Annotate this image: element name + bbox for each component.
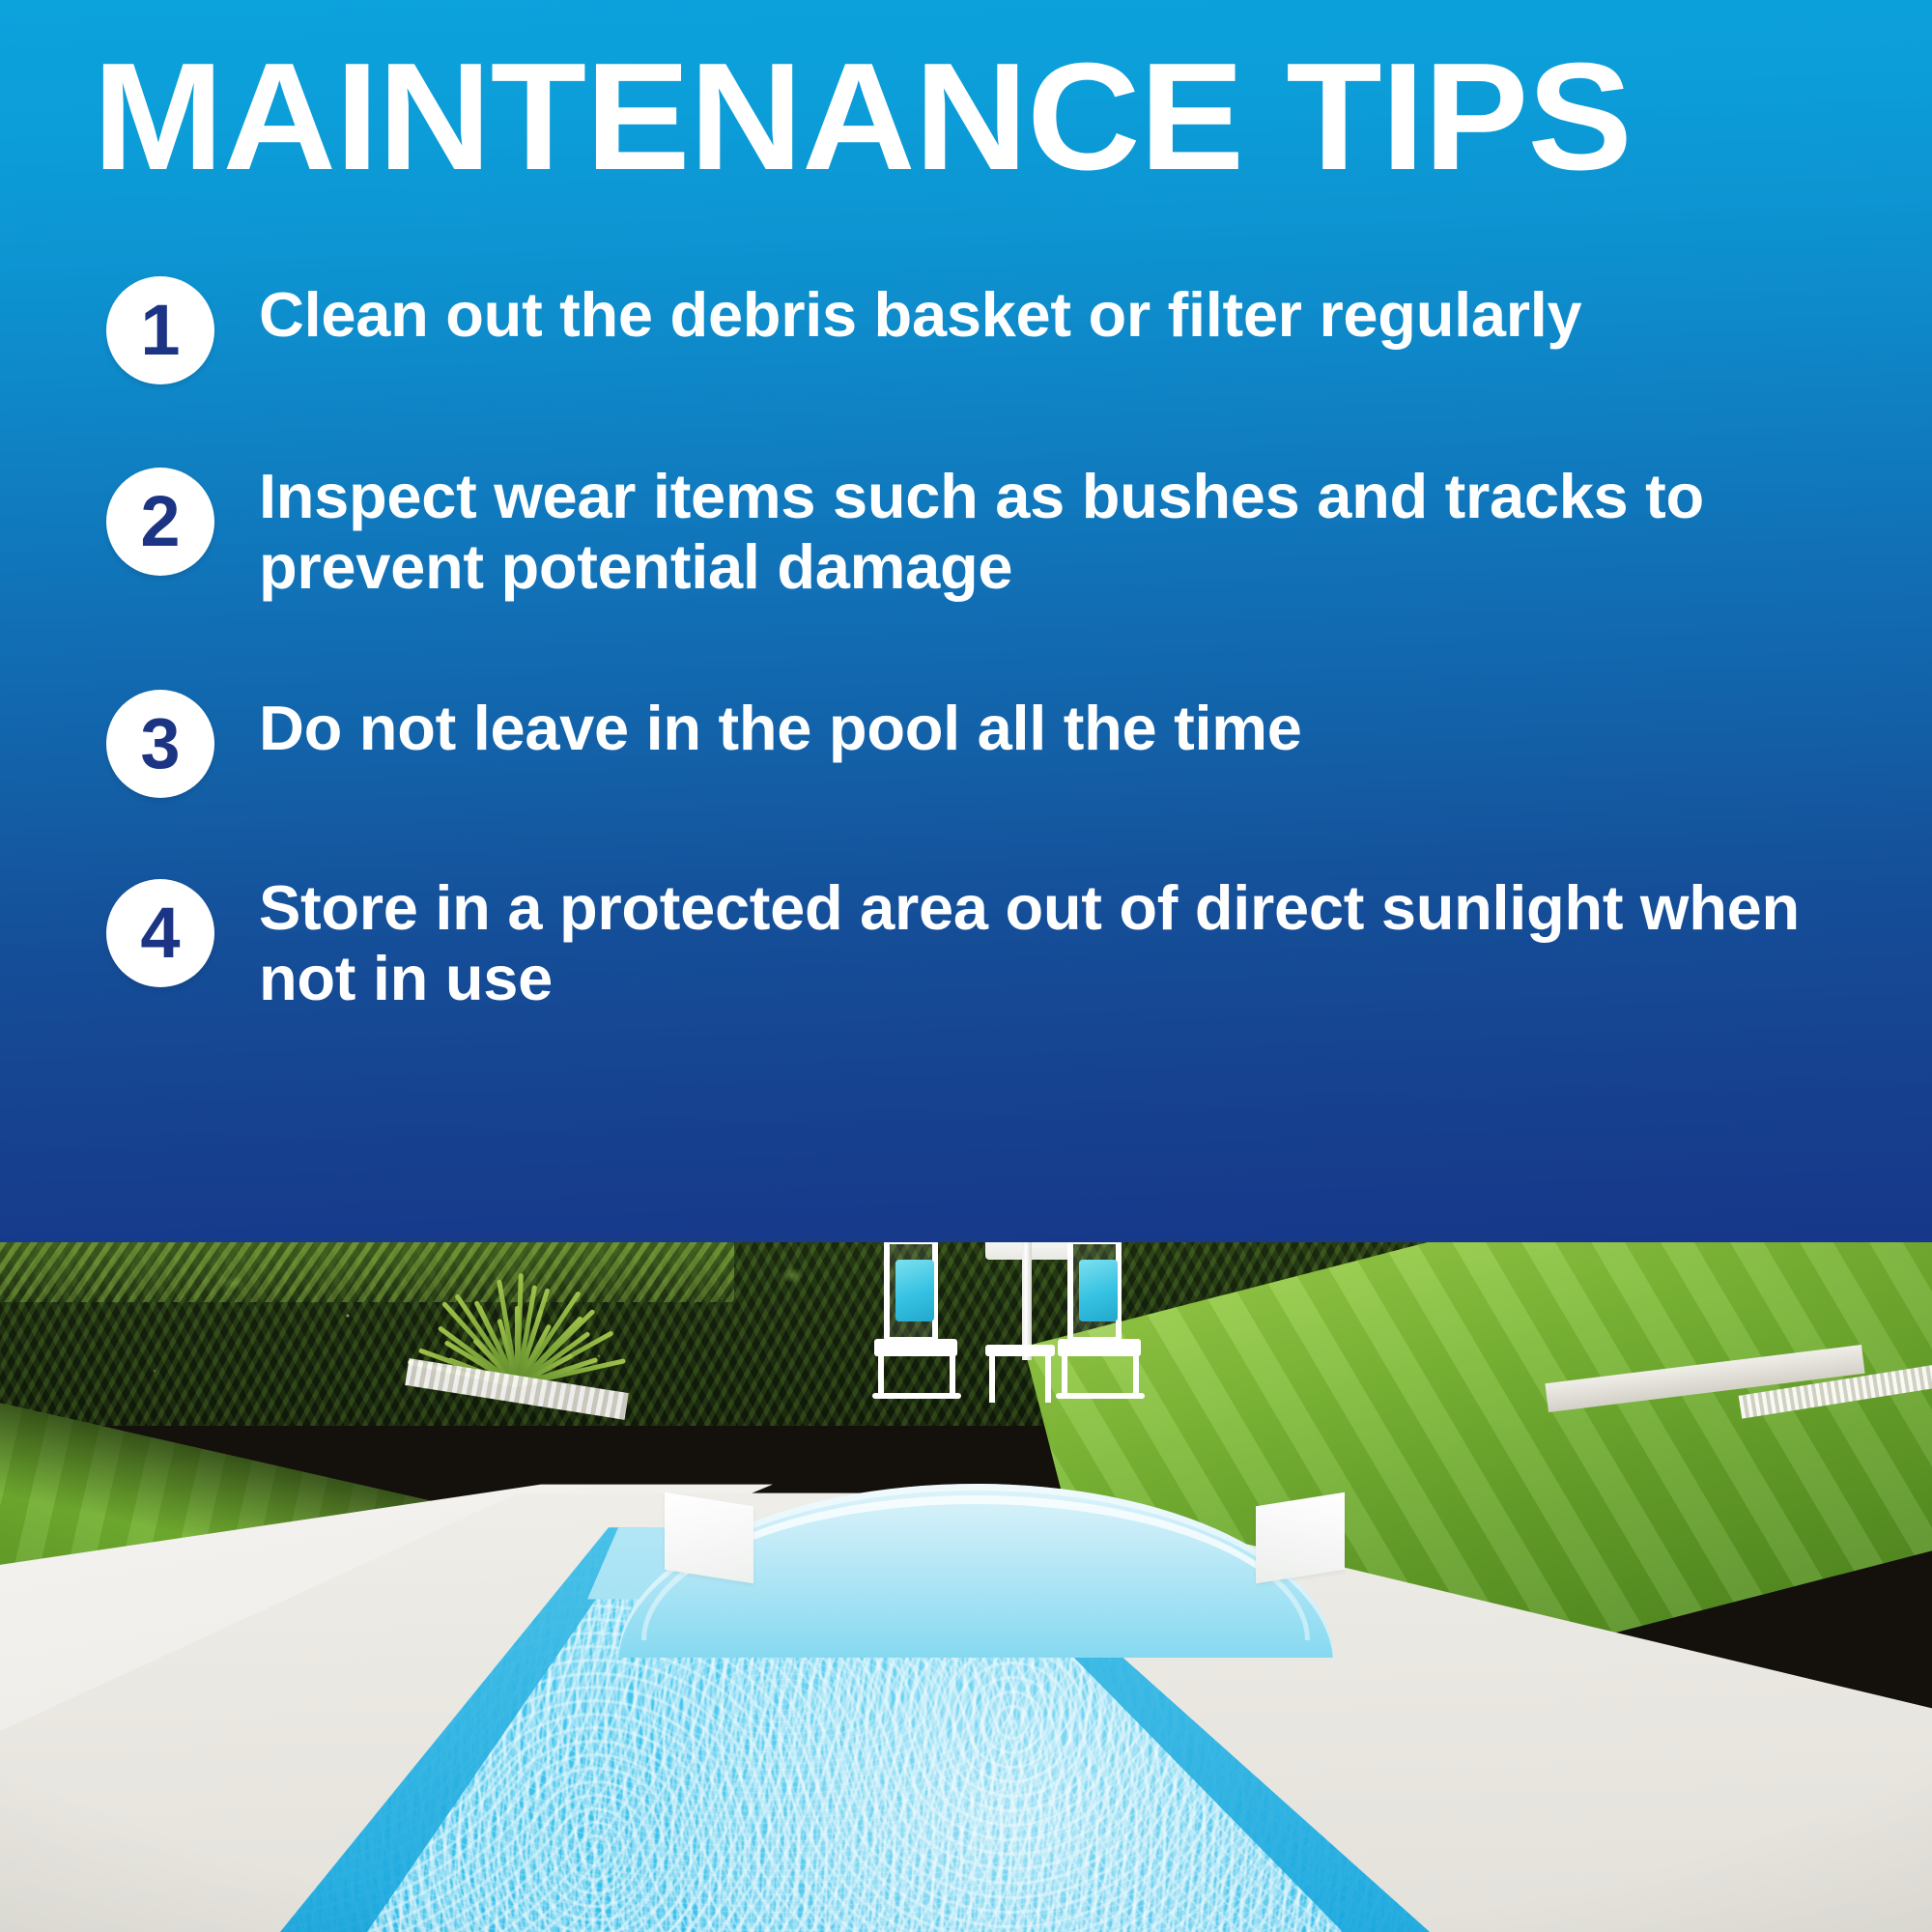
list-item: 3 Do not leave in the pool all the time xyxy=(0,667,1932,858)
tip-text: Clean out the debris basket or filter re… xyxy=(259,280,1932,351)
page-title: MAINTENANCE TIPS xyxy=(93,41,1932,193)
tip-text: Do not leave in the pool all the time xyxy=(259,694,1932,764)
tips-list: 1 Clean out the debris basket or filter … xyxy=(0,253,1932,1076)
side-table-leg xyxy=(989,1352,995,1403)
lounger-cushion xyxy=(895,1260,934,1321)
tip-number-badge: 2 xyxy=(106,468,214,576)
parasol-pole xyxy=(1022,1242,1032,1360)
maintenance-tips-poster: MAINTENANCE TIPS 1 Clean out the debris … xyxy=(0,0,1932,1932)
lounger-cushion xyxy=(1079,1260,1118,1321)
pool-photo xyxy=(0,1242,1932,1932)
list-item: 4 Store in a protected area out of direc… xyxy=(0,858,1932,1076)
pool-corner-block-right xyxy=(1256,1492,1345,1584)
list-item: 1 Clean out the debris basket or filter … xyxy=(0,253,1932,446)
pool-corner-block-left xyxy=(665,1492,753,1584)
side-table-leg xyxy=(1045,1352,1051,1403)
tip-number-badge: 4 xyxy=(106,879,214,987)
lounger-seat xyxy=(874,1339,957,1356)
tip-number-badge: 1 xyxy=(106,276,214,384)
tips-panel: MAINTENANCE TIPS 1 Clean out the debris … xyxy=(0,0,1932,1242)
lounger-seat xyxy=(1058,1339,1141,1356)
lounger-rail xyxy=(1056,1393,1145,1399)
tip-text: Store in a protected area out of direct … xyxy=(259,873,1932,1014)
list-item: 2 Inspect wear items such as bushes and … xyxy=(0,446,1932,667)
tip-text: Inspect wear items such as bushes and tr… xyxy=(259,462,1932,603)
lounger-rail xyxy=(872,1393,961,1399)
tip-number-badge: 3 xyxy=(106,690,214,798)
